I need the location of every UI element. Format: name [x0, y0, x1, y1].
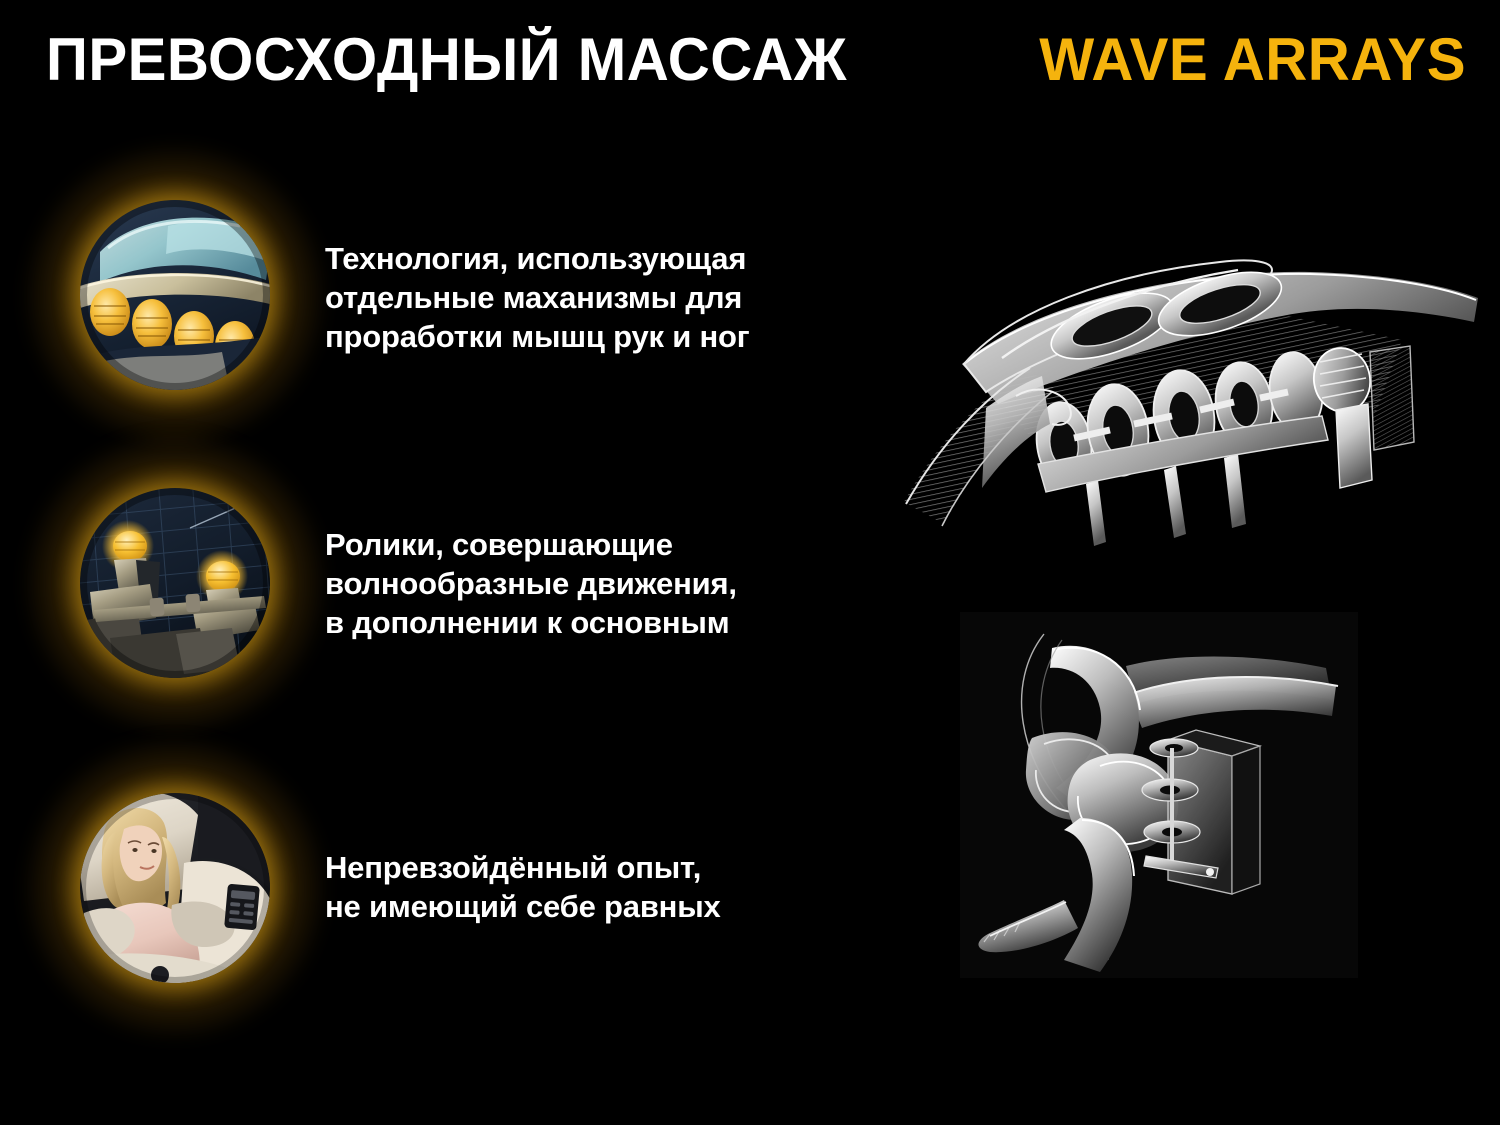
slide-root: ПРЕВОСХОДНЫЙ МАССАЖ WAVE ARRAYS	[0, 0, 1500, 1125]
leg-roller-mechanism-sketch	[960, 612, 1358, 978]
page-title-accent: WAVE ARRAYS	[1039, 26, 1466, 94]
page-title: ПРЕВОСХОДНЫЙ МАССАЖ WAVE ARRAYS	[46, 26, 1466, 94]
feature-thumb-wrap-2	[80, 488, 270, 678]
feature-thumb-wrap-1	[80, 200, 270, 390]
feature-text-1: Технология, использующая отдельные махан…	[325, 239, 885, 356]
feature-thumb-wrap-3	[80, 793, 270, 983]
page-title-main: ПРЕВОСХОДНЫЙ МАССАЖ	[46, 26, 847, 94]
roller-mechanism-photo	[80, 488, 270, 678]
massage-rollers-closeup-photo	[80, 200, 270, 390]
feature-text-2: Ролики, совершающие волнообразные движен…	[325, 525, 885, 642]
woman-in-massage-chair-photo	[80, 793, 270, 983]
feature-row-3: Непревзойдённый опыт, не имеющий себе ра…	[0, 768, 900, 1008]
arm-roller-array-sketch	[890, 212, 1490, 562]
leg-roller-panel	[960, 612, 1358, 978]
feature-row-2: Ролики, совершающие волнообразные движен…	[0, 463, 900, 703]
feature-text-3: Непревзойдённый опыт, не имеющий себе ра…	[325, 848, 885, 926]
feature-row-1: Технология, использующая отдельные махан…	[0, 175, 900, 415]
